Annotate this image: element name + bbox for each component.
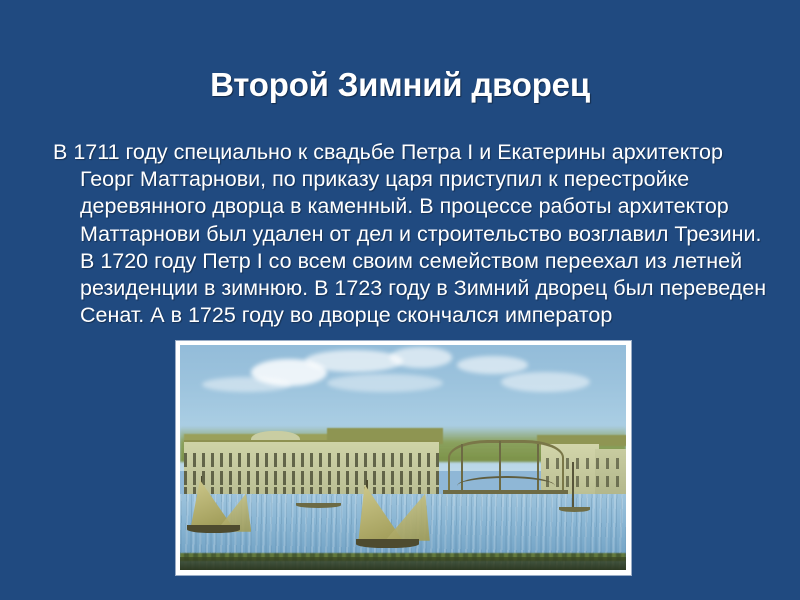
boat-mast	[572, 462, 574, 507]
foreground-shore	[180, 557, 626, 571]
cloud-shape	[305, 350, 403, 373]
palace-window-row	[184, 471, 438, 485]
slide-body-text: В 1711 году специально к свадьбе Петра I…	[53, 139, 780, 329]
body-first-line: В 1711 году специально к свадьбе Петра I…	[53, 140, 606, 164]
right-building	[595, 449, 626, 494]
palace-painting-image	[180, 345, 626, 570]
boat-hull	[356, 539, 418, 548]
picture-frame	[176, 341, 631, 575]
slide-title: Второй Зимний дворец	[40, 66, 760, 104]
presentation-slide: Второй Зимний дворец В 1711 году специал…	[0, 0, 800, 600]
cloud-shape	[390, 347, 452, 367]
palace-window-row	[184, 453, 438, 467]
body-remaining-text: архитектор Георг Маттарнови, по приказу …	[80, 140, 766, 327]
cloud-shape	[202, 377, 291, 393]
boat-hull	[187, 525, 241, 533]
